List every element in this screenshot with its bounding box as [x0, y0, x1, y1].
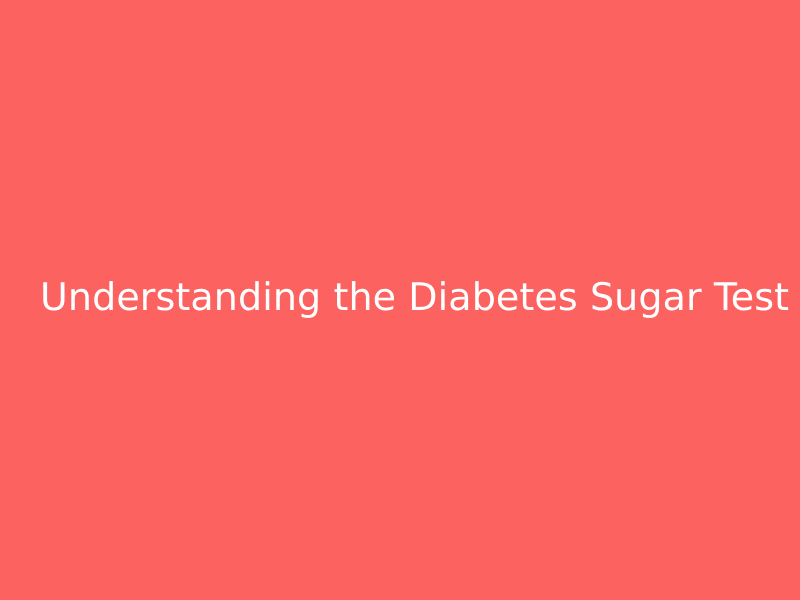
banner-container: Understanding the Diabetes Sugar Test Ki… — [0, 0, 800, 600]
banner-title-wrapper: Understanding the Diabetes Sugar Test Ki… — [0, 276, 800, 320]
banner-title: Understanding the Diabetes Sugar Test Ki… — [40, 276, 760, 320]
